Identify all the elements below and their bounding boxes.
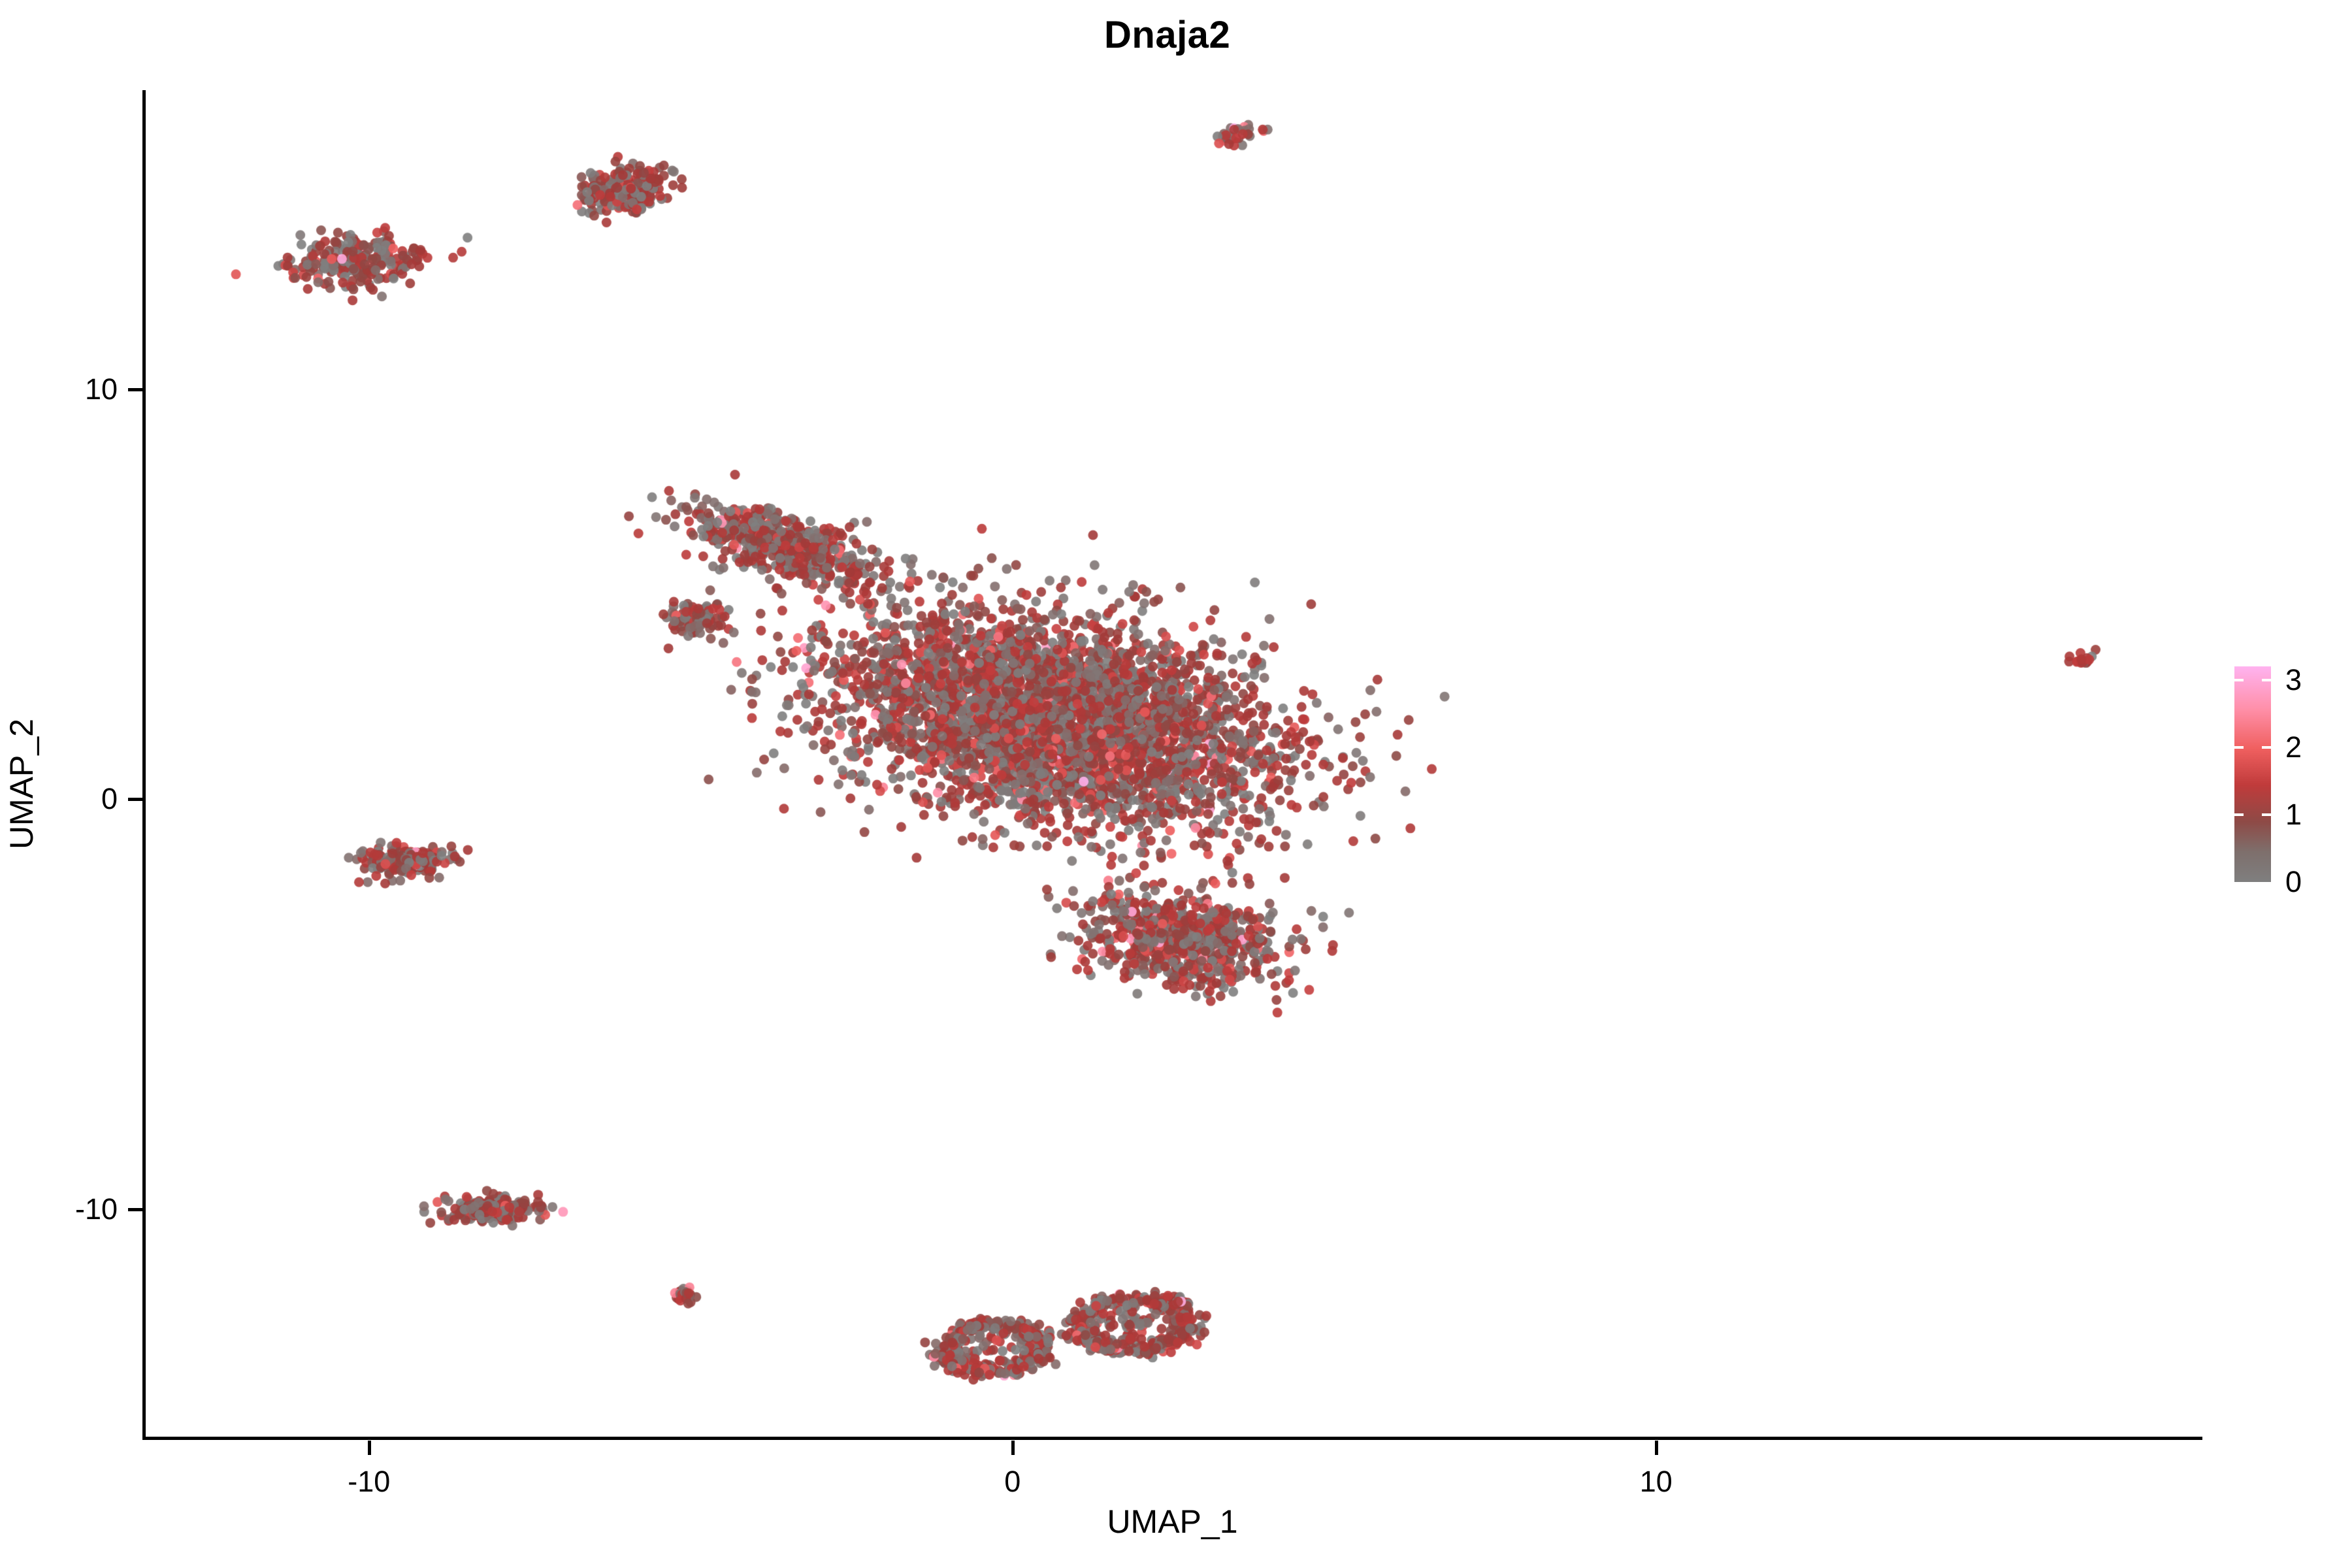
colorbar-tick-mark [2234,679,2244,681]
y-tick-mark [128,798,142,801]
color-legend: 0123 [2234,666,2271,882]
y-axis-line [142,90,146,1440]
x-tick-label: 0 [1004,1465,1021,1499]
scatter-plot-canvas [144,90,2203,1439]
x-tick-mark [1011,1441,1015,1455]
colorbar-tick-mark [2262,813,2271,816]
x-tick-label: 10 [1640,1465,1673,1499]
y-axis-title: UMAP_2 [0,0,43,1568]
y-tick-mark [128,388,142,391]
x-tick-mark [1655,1441,1658,1455]
colorbar-tick-label: 3 [2285,663,2302,697]
page-title: Dnaja2 [1104,13,1692,57]
colorbar-tick-mark [2262,746,2271,749]
colorbar-tick-label: 1 [2285,798,2302,832]
colorbar-gradient [2234,666,2271,882]
feature-plot-figure: Dnaja2 -10010 -10010 UMAP_1 UMAP_2 0123 [0,0,2352,1568]
colorbar-tick-label: 0 [2285,865,2302,899]
x-tick-label: -10 [348,1465,390,1499]
plot-panel [144,90,2203,1439]
y-axis-title-text: UMAP_2 [0,0,43,1568]
colorbar-tick-mark [2234,746,2244,749]
colorbar-tick-label: 2 [2285,730,2302,764]
x-tick-mark [368,1441,371,1455]
x-axis-title: UMAP_1 [142,1503,2202,1541]
x-axis-line [142,1437,2202,1440]
colorbar-tick-mark [2262,679,2271,681]
y-tick-mark [128,1208,142,1211]
colorbar-tick-mark [2234,813,2244,816]
